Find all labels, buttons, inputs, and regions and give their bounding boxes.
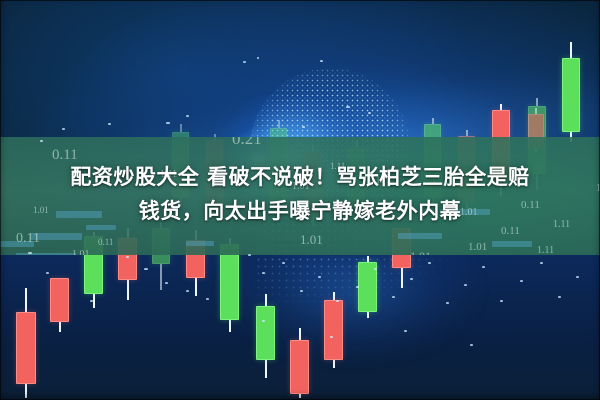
price-number: 1.11 — [537, 245, 554, 255]
particle-fleck — [186, 115, 189, 117]
particle-fleck — [540, 262, 543, 264]
price-number: 0.21 — [232, 137, 262, 149]
particle-fleck — [282, 262, 285, 264]
particle-fleck — [446, 302, 449, 304]
candle-body — [562, 58, 580, 132]
particle-fleck — [165, 282, 168, 284]
particle-fleck — [330, 336, 333, 338]
particle-fleck — [262, 272, 265, 274]
particle-fleck — [558, 296, 561, 298]
particle-fleck — [248, 254, 251, 256]
particle-fleck — [166, 122, 170, 124]
particle-fleck — [90, 300, 93, 302]
candle-body — [220, 244, 239, 320]
particle-fleck — [302, 126, 305, 128]
banner-image: 0.111.010.110.111.010.111.111.010.210.11… — [0, 0, 600, 400]
price-number: 1.01 — [300, 232, 323, 248]
particle-fleck — [186, 290, 189, 292]
candle-body — [50, 278, 69, 322]
candle-8 — [256, 294, 275, 378]
candle-body — [290, 340, 309, 394]
particle-fleck — [410, 278, 413, 280]
particle-fleck — [206, 298, 209, 300]
particle-fleck — [470, 344, 473, 346]
particle-fleck — [576, 276, 579, 278]
candle-10 — [324, 292, 343, 368]
particle-fleck — [482, 266, 485, 268]
particle-fleck — [356, 286, 359, 288]
particle-fleck — [257, 57, 259, 59]
price-number: 1.01 — [410, 249, 431, 255]
headline: 配资炒股大全 看破不说破！骂张柏芝三胎全是赔 钱货，向太出手曝宁静嫁老外内幕 — [0, 160, 600, 228]
particle-fleck — [374, 268, 377, 270]
particle-fleck — [144, 268, 148, 270]
particle-fleck — [392, 296, 395, 298]
headline-line-1: 配资炒股大全 看破不说破！骂张柏芝三胎全是赔 — [14, 160, 586, 194]
particle-fleck — [46, 272, 49, 274]
candle-9 — [290, 328, 309, 398]
particle-fleck — [464, 284, 467, 286]
candle-body — [324, 300, 343, 360]
price-number: 1.01 — [468, 241, 487, 253]
particle-fleck — [320, 60, 323, 62]
particle-fleck — [108, 123, 111, 125]
particle-fleck — [28, 252, 32, 254]
candle-body — [256, 306, 275, 360]
candle-1 — [16, 288, 36, 398]
mini-bar — [186, 241, 214, 246]
candle-11 — [358, 256, 377, 318]
particle-fleck — [520, 280, 523, 282]
particle-fleck — [404, 330, 407, 332]
candle-2 — [50, 286, 69, 332]
particle-fleck — [318, 276, 321, 278]
price-number: 0.11 — [16, 231, 40, 247]
particle-fleck — [243, 61, 246, 63]
headline-line-2: 钱货，向太出手曝宁静嫁老外内幕 — [14, 194, 586, 228]
particle-fleck — [126, 256, 129, 258]
price-number: 0.11 — [98, 237, 113, 247]
particle-fleck — [336, 300, 339, 302]
particle-fleck — [300, 290, 303, 292]
particle-fleck — [62, 128, 65, 130]
candle-body — [16, 312, 36, 384]
particle-fleck — [500, 300, 503, 302]
particle-fleck — [428, 262, 431, 264]
candle-22 — [562, 42, 580, 142]
mini-bar — [492, 241, 532, 247]
particle-fleck — [40, 140, 43, 142]
particle-fleck — [262, 320, 265, 322]
particle-fleck — [346, 106, 350, 108]
particle-fleck — [368, 112, 371, 114]
mini-bar — [398, 233, 442, 239]
price-number: 1.01 — [72, 249, 90, 255]
